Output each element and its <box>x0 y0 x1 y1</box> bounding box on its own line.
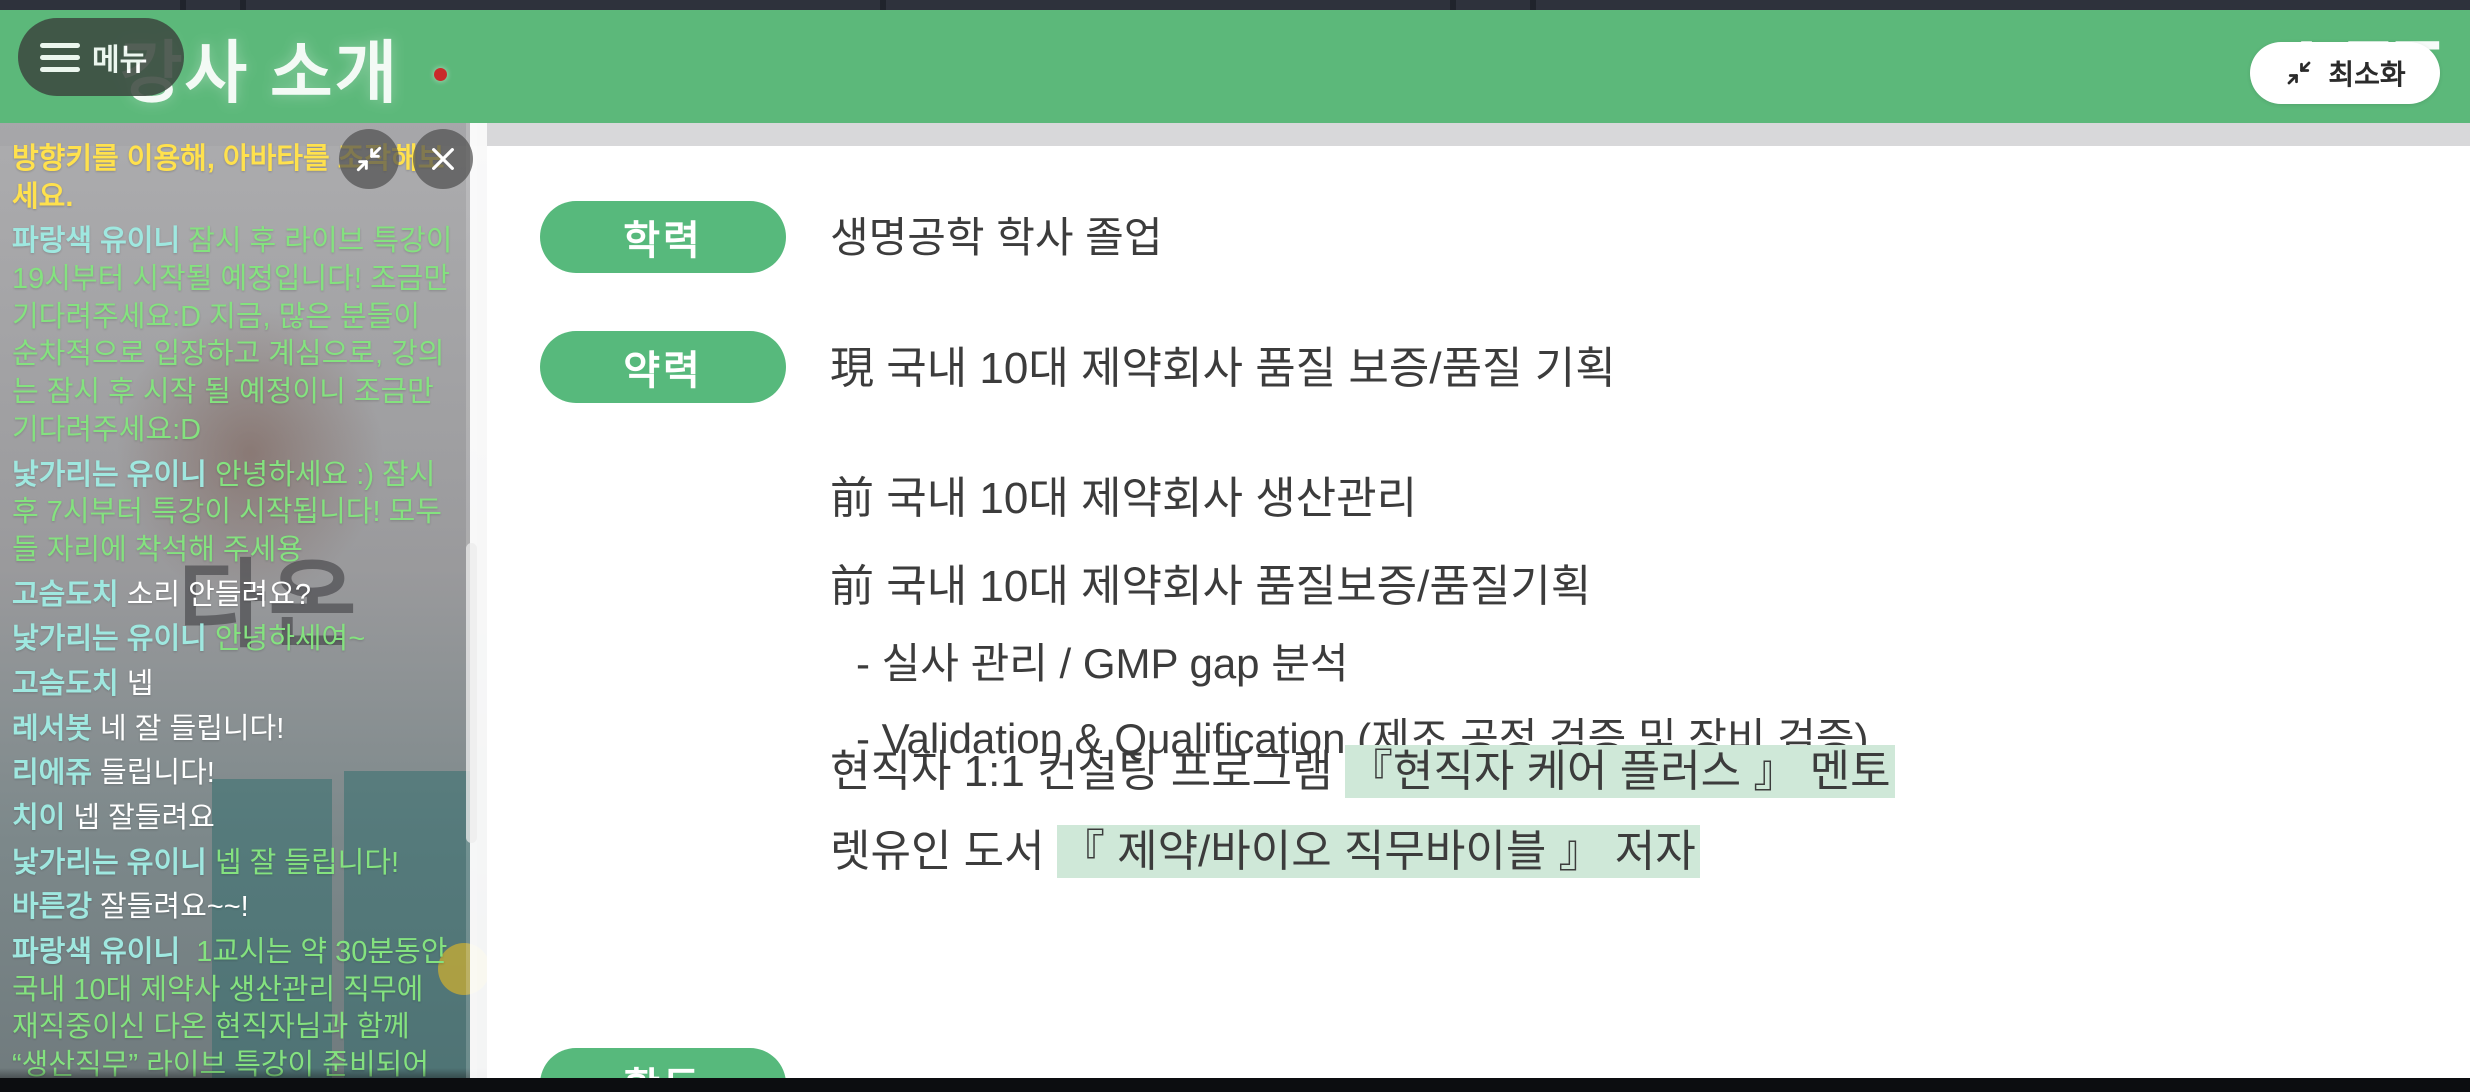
profile-section-activity: 활동 현직자 1:1 컨설팅 프로그램 『현직자 케어 플러스 』 멘토 렛유인… <box>540 574 2400 1078</box>
chat-message: 고슴도치소리 안들려요? <box>12 577 454 615</box>
minimize-button-label: 최소화 <box>2328 53 2405 93</box>
chat-close-button[interactable] <box>413 129 473 189</box>
section-body-activity: 현직자 1:1 컨설팅 프로그램 『현직자 케어 플러스 』 멘토 렛유인 도서… <box>830 574 1895 878</box>
chat-message-text: 잘들려요~~! <box>100 891 249 923</box>
chat-message-text: 네 잘 들립니다! <box>100 713 284 745</box>
chat-message-user: 낯가리는 유이니 <box>12 847 207 879</box>
section-badge-career: 약력 <box>540 331 786 403</box>
chat-message-user: 리에쥬 <box>12 757 92 789</box>
instructor-profile: 학력 생명공학 학사 졸업 약력 現 국내 10대 제약회사 품질 보증/품질 … <box>540 195 2400 1078</box>
menu-button[interactable]: 메뉴 <box>18 18 184 96</box>
menu-button-label: 메뉴 <box>92 35 147 79</box>
chat-message: 바른강잘들려요~~! <box>12 889 454 927</box>
top-bar-notch <box>1450 0 1456 10</box>
chat-message: 파랑색 유이니 1교시는 약 30분동안 국내 10대 제약사 생산관리 직무에… <box>12 934 454 1092</box>
chat-message: 치이넵 잘들려요 <box>12 800 454 838</box>
chat-message-user: 파랑색 유이니 <box>12 225 180 257</box>
chat-message: 낯가리는 유이니넵 잘 들립니다! <box>12 845 454 883</box>
chat-overlay-panel: 다온 방향키를 이용해, 아바타를 조작해보세요. 파랑색 유이니잠시 후 라이… <box>0 123 487 1092</box>
chat-message: 파랑색 유이니잠시 후 라이브 특강이 19시부터 시작될 예정입니다! 조금만… <box>12 223 454 449</box>
chat-message-text: 넵 잘 들립니다! <box>215 847 399 879</box>
activity-line-2-prefix: 렛유인 도서 <box>830 827 1057 876</box>
chat-message: 낯가리는 유이니안녕하세여~ <box>12 621 454 659</box>
chat-message: 고슴도치넵 <box>12 666 454 704</box>
career-line-previous-1: 前 국내 10대 제약회사 생산관리 <box>830 473 1869 525</box>
chat-message: 리에쥬들립니다! <box>12 755 454 793</box>
chat-message: 레서봇네 잘 들립니다! <box>12 711 454 749</box>
chat-message-user: 레서봇 <box>12 713 92 745</box>
chat-controls <box>339 129 473 189</box>
chat-message-user: 고슴도치 <box>12 668 119 700</box>
career-line-current: 現 국내 10대 제약회사 품질 보증/품질 기획 <box>830 343 1869 395</box>
top-bar-notch <box>880 0 886 10</box>
chat-message-user: 고슴도치 <box>12 579 119 611</box>
activity-line-1: 현직자 1:1 컨설팅 프로그램 『현직자 케어 플러스 』 멘토 <box>830 746 1895 798</box>
chat-message-text: 안녕하세여~ <box>215 623 365 655</box>
top-bar-notch <box>180 0 186 10</box>
app-window: 강사 소개 메뉴 LET 최소화 학력 생명공학 학사 졸업 <box>0 0 2470 1092</box>
section-badge-activity: 활동 <box>540 1048 786 1078</box>
minimize-arrows-icon <box>2284 58 2314 88</box>
activity-line-1-highlight: 『현직자 케어 플러스 』 멘토 <box>1345 745 1895 798</box>
chat-minimize-button[interactable] <box>339 129 399 189</box>
close-icon <box>427 143 459 175</box>
chat-message-user: 파랑색 유이니 <box>12 936 180 968</box>
top-bar-notch <box>240 0 246 10</box>
activity-line-2-highlight: 『 제약/바이오 직무바이블 』 저자 <box>1057 825 1700 878</box>
recording-indicator-icon <box>434 68 447 81</box>
chat-message-user: 치이 <box>12 802 65 834</box>
chat-message-text: 들립니다! <box>100 757 215 789</box>
chat-message-user: 낯가리는 유이니 <box>12 459 207 491</box>
minimize-arrows-icon <box>353 143 385 175</box>
chat-message-text: 잠시 후 라이브 특강이 19시부터 시작될 예정입니다! 조금만 기다려주세요… <box>12 225 452 445</box>
chat-message-text: 소리 안들려요? <box>127 579 311 611</box>
chat-message-user: 바른강 <box>12 891 92 923</box>
chat-message-user: 낯가리는 유이니 <box>12 623 207 655</box>
chat-message-text: 넵 <box>127 668 154 700</box>
chat-message-list[interactable]: 방향키를 이용해, 아바타를 조작해보세요. 파랑색 유이니잠시 후 라이브 특… <box>0 123 470 1092</box>
chat-message-text: 넵 잘들려요 <box>73 802 214 834</box>
activity-line-1-prefix: 현직자 1:1 컨설팅 프로그램 <box>830 747 1345 796</box>
window-bottom-bar <box>0 1078 2470 1092</box>
window-top-bar <box>0 0 2470 10</box>
activity-line-2: 렛유인 도서 『 제약/바이오 직무바이블 』 저자 <box>830 826 1895 878</box>
hamburger-icon <box>40 43 80 72</box>
top-bar-notch <box>1530 0 1536 10</box>
page-header: 강사 소개 메뉴 LET 최소화 <box>0 10 2470 123</box>
chat-message: 낯가리는 유이니안녕하세요 :) 잠시 후 7시부터 특강이 시작됩니다! 모두… <box>12 457 454 570</box>
section-badge-education: 학력 <box>540 201 786 273</box>
chat-scrollbar-thumb[interactable] <box>466 543 477 843</box>
minimize-button[interactable]: 최소화 <box>2250 42 2440 104</box>
